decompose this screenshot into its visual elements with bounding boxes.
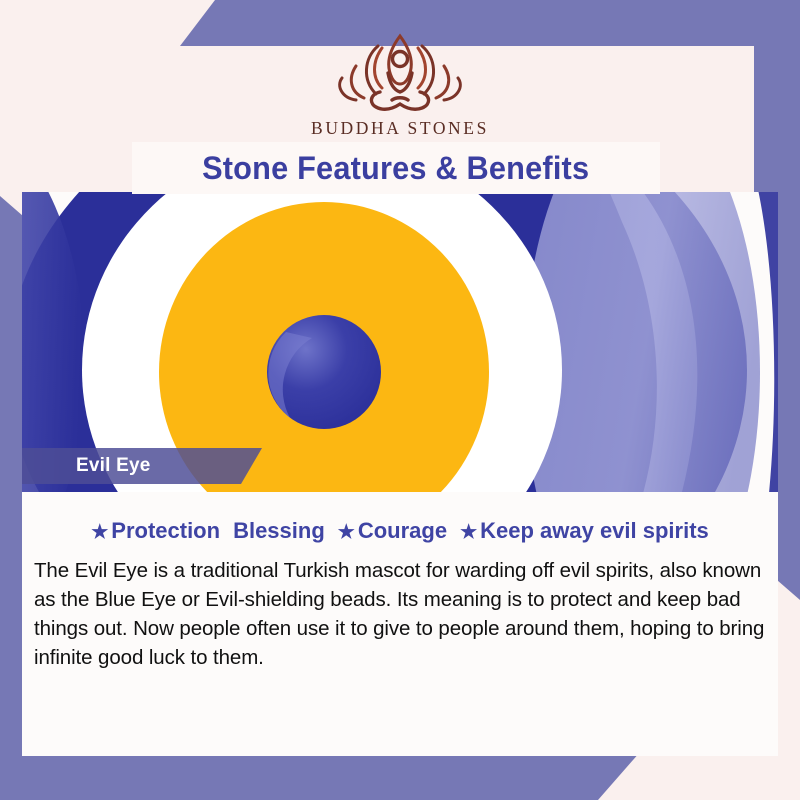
benefit-protection: ★ Protection <box>91 518 220 544</box>
benefit-blessing: Blessing <box>233 518 325 544</box>
benefit-courage: ★ Courage <box>338 518 447 544</box>
benefit-label-1: Blessing <box>233 518 325 544</box>
brand-name: BUDDHA STONES <box>311 118 489 139</box>
star-icon: ★ <box>338 521 355 544</box>
page-title: Stone Features & Benefits <box>202 150 589 187</box>
brand-logo: BUDDHA STONES <box>0 28 800 139</box>
benefits-row: ★ Protection Blessing ★ Courage ★ Keep a… <box>22 518 778 544</box>
benefit-label-3: Keep away evil spirits <box>480 518 709 544</box>
benefit-keep-away-evil-spirits: ★ Keep away evil spirits <box>460 518 709 544</box>
lotus-meditation-figure-icon <box>320 28 480 114</box>
evil-eye-hero-image <box>22 192 778 492</box>
evil-eye-label-ribbon: Evil Eye <box>22 448 262 484</box>
star-icon: ★ <box>460 521 477 544</box>
star-icon: ★ <box>91 521 108 544</box>
description-text: The Evil Eye is a traditional Turkish ma… <box>34 556 766 672</box>
title-bar: Stone Features & Benefits <box>132 142 660 194</box>
benefit-label-2: Courage <box>358 518 447 544</box>
frame-band-bottom <box>0 752 640 800</box>
hero-label: Evil Eye <box>76 455 150 477</box>
benefit-label-0: Protection <box>111 518 220 544</box>
evil-eye-graphic <box>22 192 778 492</box>
infographic-page: Evil Eye Stone Features & Benefits <box>0 0 800 800</box>
description-panel: ★ Protection Blessing ★ Courage ★ Keep a… <box>22 492 778 756</box>
